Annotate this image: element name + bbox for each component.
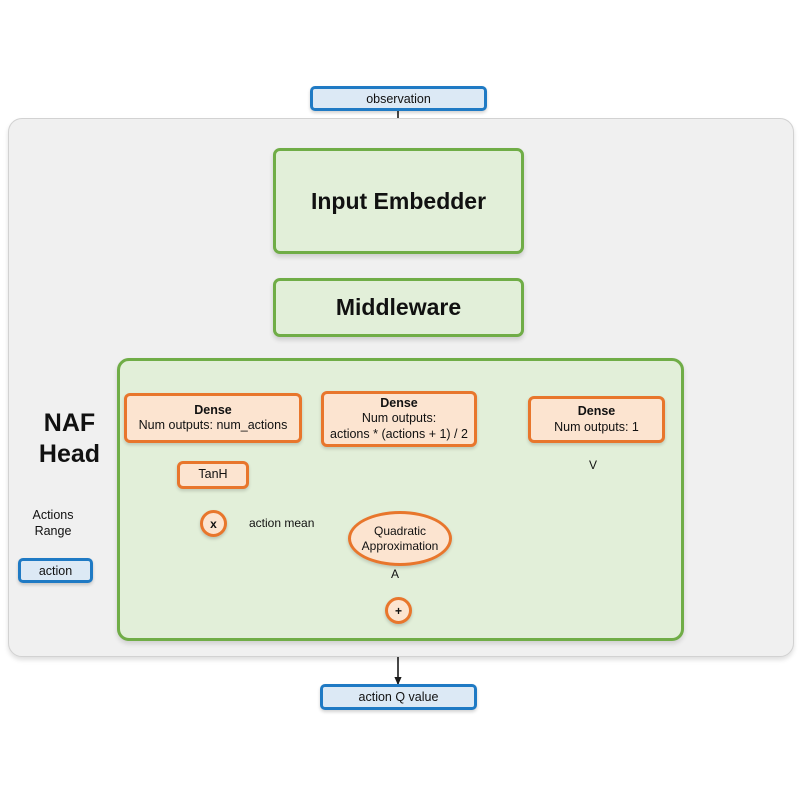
input-embedder-block[interactable]: Input Embedder (273, 148, 524, 254)
quadratic-line-1: Quadratic (374, 524, 426, 539)
actions-range-label: Actions Range (22, 507, 84, 540)
dense-right-box[interactable]: Dense Num outputs: 1 (528, 396, 665, 443)
action-mean-label: action mean (249, 516, 314, 530)
dense-mid-detail-1: Num outputs: (362, 411, 436, 426)
observation-box[interactable]: observation (310, 86, 487, 111)
dense-mid-detail-2: actions * (actions + 1) / 2 (330, 427, 468, 442)
action-q-value-box[interactable]: action Q value (320, 684, 477, 710)
quadratic-approximation-node[interactable]: Quadratic Approximation (348, 511, 452, 566)
naf-head-title-line1: NAF (22, 408, 117, 439)
actions-range-line1: Actions (22, 507, 84, 523)
multiply-label: x (210, 517, 217, 531)
advantage-label: A (391, 567, 399, 581)
dense-left-title: Dense (194, 403, 232, 418)
actions-range-line2: Range (22, 523, 84, 539)
quadratic-line-2: Approximation (362, 539, 439, 554)
diagram-canvas: observation Input Embedder Middleware NA… (0, 0, 800, 800)
middleware-block[interactable]: Middleware (273, 278, 524, 337)
dense-left-box[interactable]: Dense Num outputs: num_actions (124, 393, 302, 443)
dense-right-title: Dense (578, 404, 616, 419)
dense-mid-box[interactable]: Dense Num outputs: actions * (actions + … (321, 391, 477, 447)
observation-label: observation (366, 92, 431, 106)
value-label: V (589, 458, 597, 472)
dense-right-detail: Num outputs: 1 (554, 420, 639, 435)
multiply-node[interactable]: x (200, 510, 227, 537)
middleware-label: Middleware (336, 294, 461, 321)
tanh-label: TanH (198, 467, 227, 482)
dense-left-detail: Num outputs: num_actions (139, 418, 288, 433)
dense-mid-title: Dense (380, 396, 418, 411)
add-label: + (395, 604, 402, 618)
add-node[interactable]: + (385, 597, 412, 624)
naf-head-title-line2: Head (22, 439, 117, 470)
action-q-value-label: action Q value (359, 690, 439, 704)
action-box[interactable]: action (18, 558, 93, 583)
tanh-box[interactable]: TanH (177, 461, 249, 489)
action-label: action (39, 564, 72, 578)
input-embedder-label: Input Embedder (311, 188, 486, 215)
naf-head-title: NAF Head (22, 408, 117, 471)
